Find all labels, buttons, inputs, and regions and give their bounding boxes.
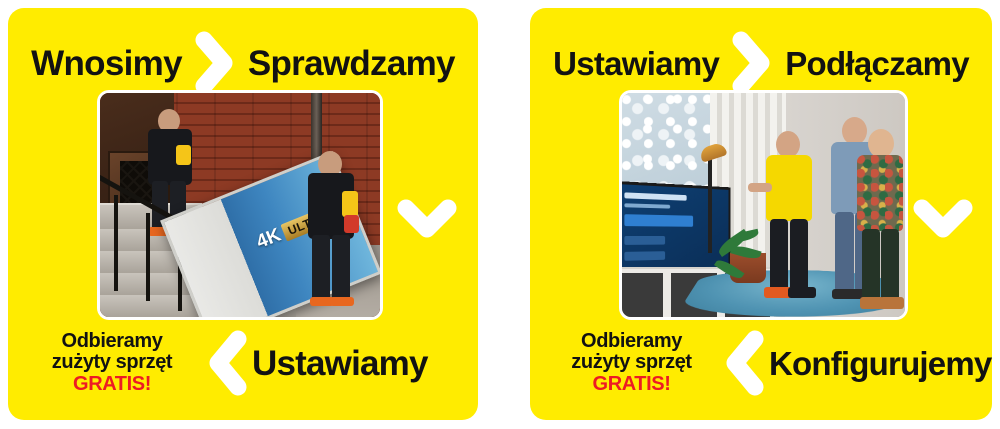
chevron-down-icon <box>396 196 458 242</box>
tv-ui-option-row <box>624 236 665 245</box>
chevron-left-icon <box>202 328 252 398</box>
chevron-right-icon <box>192 30 238 96</box>
headline-row-installation: Ustawiamy Podłączamy <box>530 35 992 91</box>
photo-delivery-art: 4K ULTRA HD <box>100 93 380 317</box>
photo-delivery: 4K ULTRA HD <box>100 93 380 317</box>
footer-row-installation: Odbieramy zużyty sprzęt GRATIS! Konfigur… <box>530 320 992 406</box>
step-label-wnosimy: Wnosimy <box>31 46 182 81</box>
photo-installation-art <box>622 93 905 317</box>
step-label-ustawiamy-top: Ustawiamy <box>553 47 719 80</box>
recycle-line-2: zużyty sprzęt <box>571 351 691 373</box>
footer-row-delivery: Odbieramy zużyty sprzęt GRATIS! Ustawiam… <box>8 320 478 406</box>
tv-ui-primary-button <box>624 214 693 227</box>
customer-woman <box>854 129 905 315</box>
tv-ui-subheading <box>624 203 670 208</box>
recycle-note-installation: Odbieramy zużyty sprzęt GRATIS! <box>544 331 719 395</box>
tv-ui-option-row <box>624 251 665 261</box>
recycle-free-badge: GRATIS! <box>544 374 719 395</box>
chevron-down-icon <box>912 196 974 242</box>
step-label-sprawdzamy: Sprawdzamy <box>248 46 455 81</box>
worker-lower <box>300 151 362 313</box>
tv-ui-heading <box>624 192 686 200</box>
headline-row-delivery: Wnosimy Sprawdzamy <box>8 35 478 91</box>
photo-installation <box>622 93 905 317</box>
chevron-left-icon <box>719 328 769 398</box>
step-label-podlaczamy: Podłączamy <box>785 47 969 80</box>
technician <box>762 131 816 311</box>
panel-installation: Ustawiamy Podłączamy <box>530 8 992 420</box>
recycle-line-1: Odbieramy <box>581 330 682 352</box>
chevron-right-icon <box>729 30 775 96</box>
recycle-note-delivery: Odbieramy zużyty sprzęt GRATIS! <box>22 331 202 395</box>
recycle-line-2: zużyty sprzęt <box>52 351 172 373</box>
step-label-konfigurujemy: Konfigurujemy <box>769 347 991 380</box>
panel-delivery: Wnosimy Sprawdzamy <box>8 8 478 420</box>
recycle-free-badge: GRATIS! <box>22 374 202 395</box>
floor-lamp-stem <box>708 153 712 253</box>
step-label-ustawiamy: Ustawiamy <box>252 346 428 381</box>
infographic-stage: Wnosimy Sprawdzamy <box>0 0 1000 429</box>
recycle-line-1: Odbieramy <box>62 330 163 352</box>
